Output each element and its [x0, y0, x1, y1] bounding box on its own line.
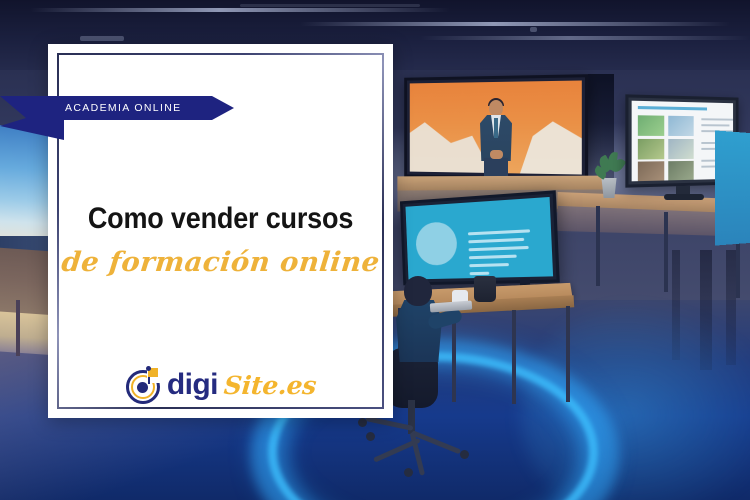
digisite-target-icon	[125, 366, 163, 404]
ceiling-light	[530, 27, 537, 32]
ceiling-beam	[30, 8, 450, 12]
far-right-screen	[715, 130, 750, 245]
slide-image	[638, 161, 664, 181]
slide-text-line	[701, 124, 729, 126]
academia-ribbon: ACADEMIA ONLINE	[0, 96, 240, 128]
slide-image	[668, 139, 693, 159]
cyan-presentation-screen	[400, 190, 560, 285]
seated-person-head	[404, 276, 432, 306]
ribbon-body: ACADEMIA ONLINE	[38, 96, 234, 120]
ceiling-light	[80, 36, 124, 41]
screen-text-line	[469, 246, 529, 251]
slide-title-bar	[638, 106, 707, 110]
ribbon-label: ACADEMIA ONLINE	[38, 102, 182, 114]
screen-text-line	[469, 255, 517, 260]
presenter-figure	[478, 100, 514, 188]
cyan-screen-content	[406, 197, 554, 280]
screen-logo-circle	[415, 221, 458, 266]
screen-text-line	[468, 229, 530, 235]
chair-wheel	[460, 450, 469, 459]
page-title: Como vender cursos	[65, 204, 376, 234]
slide-image	[638, 115, 664, 136]
ceiling-light	[240, 4, 420, 7]
slide-image	[638, 139, 664, 160]
counter-post	[664, 212, 668, 292]
brand-logo: digi Site.es	[48, 366, 393, 404]
slide-text-line	[701, 118, 733, 120]
screen-text-line	[469, 263, 509, 267]
coffee-mug	[474, 276, 496, 302]
chair-wheel	[358, 418, 367, 427]
target-bullseye	[137, 382, 148, 393]
presenter-hands	[490, 150, 503, 159]
page-subtitle: de formación online	[43, 247, 398, 279]
presenter-head	[489, 100, 503, 116]
logo-word-primary: digi	[167, 368, 218, 402]
monitor-base	[664, 194, 704, 200]
counter-leg	[16, 300, 20, 356]
screen-text-line	[470, 272, 490, 275]
chair-wheel	[366, 432, 375, 441]
screen-text-line	[468, 238, 524, 243]
slide-image	[668, 116, 693, 136]
screen-graphic-right	[520, 117, 582, 175]
logo-word-secondary: Site.es	[223, 371, 318, 400]
slide-image	[668, 161, 693, 181]
presenter-tie	[494, 118, 498, 138]
dart-tip	[146, 366, 151, 371]
desk-leg	[566, 306, 570, 402]
desk-leg	[512, 310, 516, 404]
counter-post	[596, 206, 600, 286]
ceiling-beam	[420, 36, 750, 40]
ceiling-beam	[300, 22, 730, 26]
chair-wheel	[404, 468, 413, 477]
